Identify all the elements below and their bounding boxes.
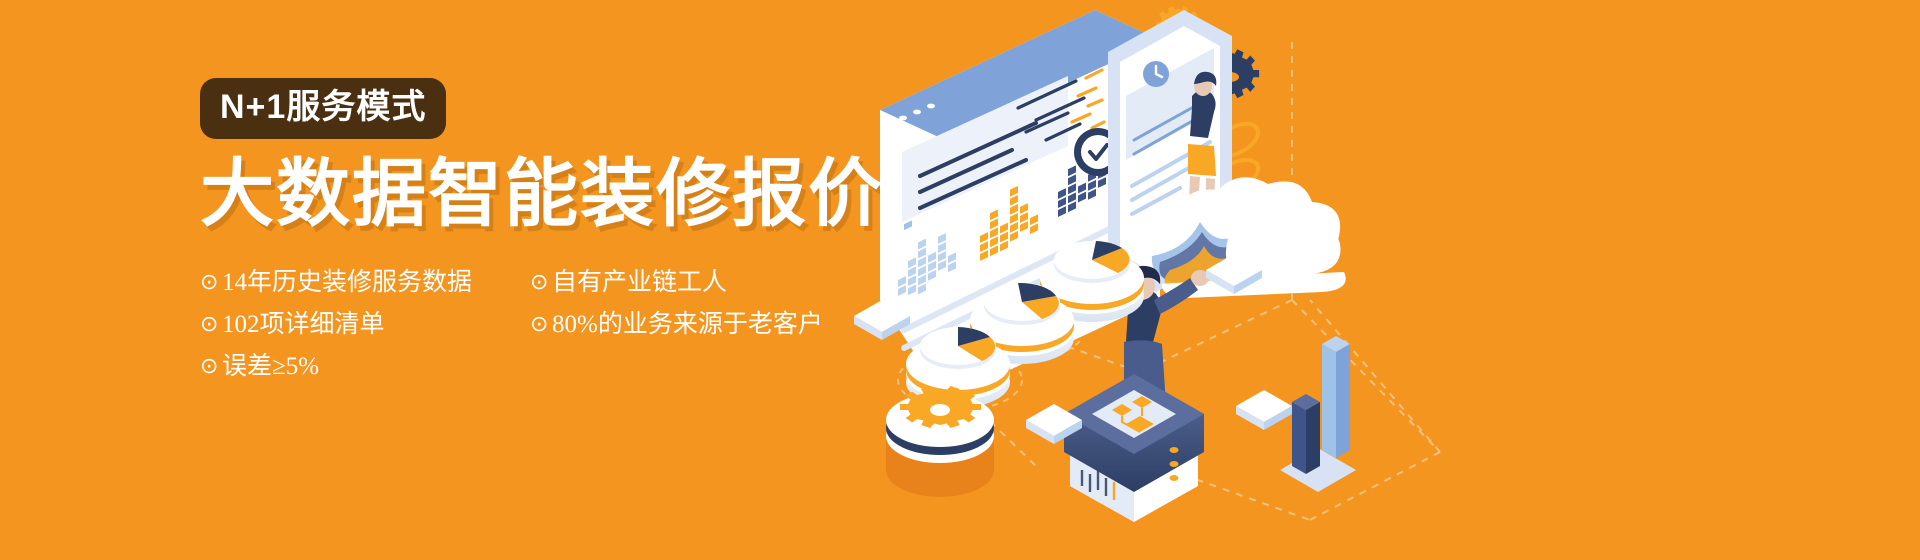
indicator-lights [1170,447,1179,481]
isometric-big-data-illustration [840,0,1560,560]
gear-icon-orange [900,386,981,428]
circled-dot-icon: ⊙ [530,271,552,293]
promo-banner: N+1服务模式 大数据智能装修报价 ⊙ 14年历史装修服务数据 ⊙ 102项详细… [0,0,1920,560]
feature-label: 102项详细清单 [222,312,385,337]
list-item: ⊙ 102项详细清单 [200,312,530,337]
feature-list: ⊙ 14年历史装修服务数据 ⊙ 102项详细清单 ⊙ 误差≥5% ⊙ 自有产业链… [200,261,920,387]
clock-icon [1143,61,1169,87]
banner-text-block: N+1服务模式 大数据智能装修报价 ⊙ 14年历史装修服务数据 ⊙ 102项详细… [200,78,920,387]
circled-dot-icon: ⊙ [530,313,552,335]
feature-label: 80%的业务来源于老客户 [552,312,823,337]
service-mode-badge: N+1服务模式 [200,78,446,139]
floating-plate [1236,390,1292,430]
gear-cylinder-unit [886,386,994,497]
list-item: ⊙ 误差≥5% [200,354,530,379]
circled-dot-icon: ⊙ [200,355,222,377]
feature-label: 14年历史装修服务数据 [222,270,472,295]
circled-dot-icon: ⊙ [200,271,222,293]
list-item: ⊙ 14年历史装修服务数据 [200,270,530,295]
circled-dot-icon: ⊙ [200,313,222,335]
feature-label: 误差≥5% [222,354,319,379]
page-title: 大数据智能装修报价 [200,155,920,233]
server-box [1064,374,1204,522]
feature-label: 自有产业链工人 [552,270,727,295]
